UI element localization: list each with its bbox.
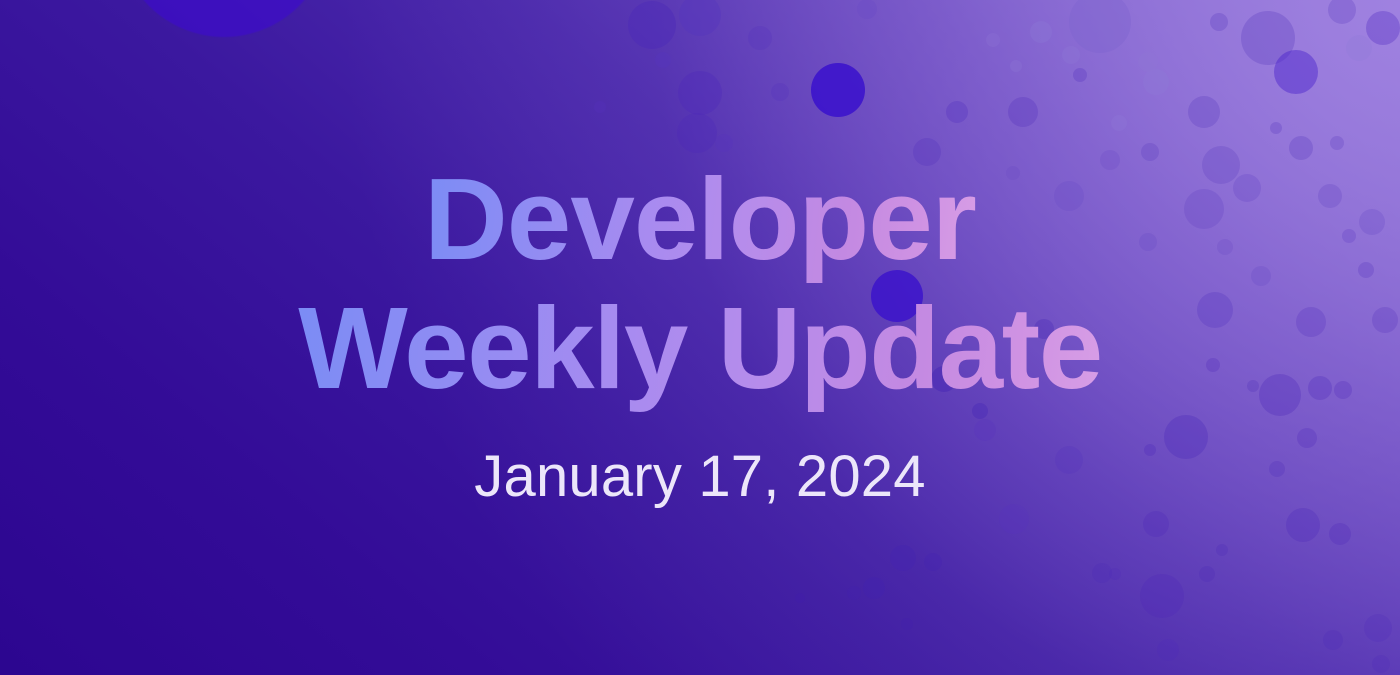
slide-date: January 17, 2024 <box>474 446 925 508</box>
headline-line-1: Developer <box>424 155 976 284</box>
title-slide: Developer Weekly Update January 17, 2024 <box>0 0 1400 675</box>
headline-line-2: Weekly Update <box>298 284 1102 413</box>
slide-content: Developer Weekly Update January 17, 2024 <box>0 0 1400 675</box>
